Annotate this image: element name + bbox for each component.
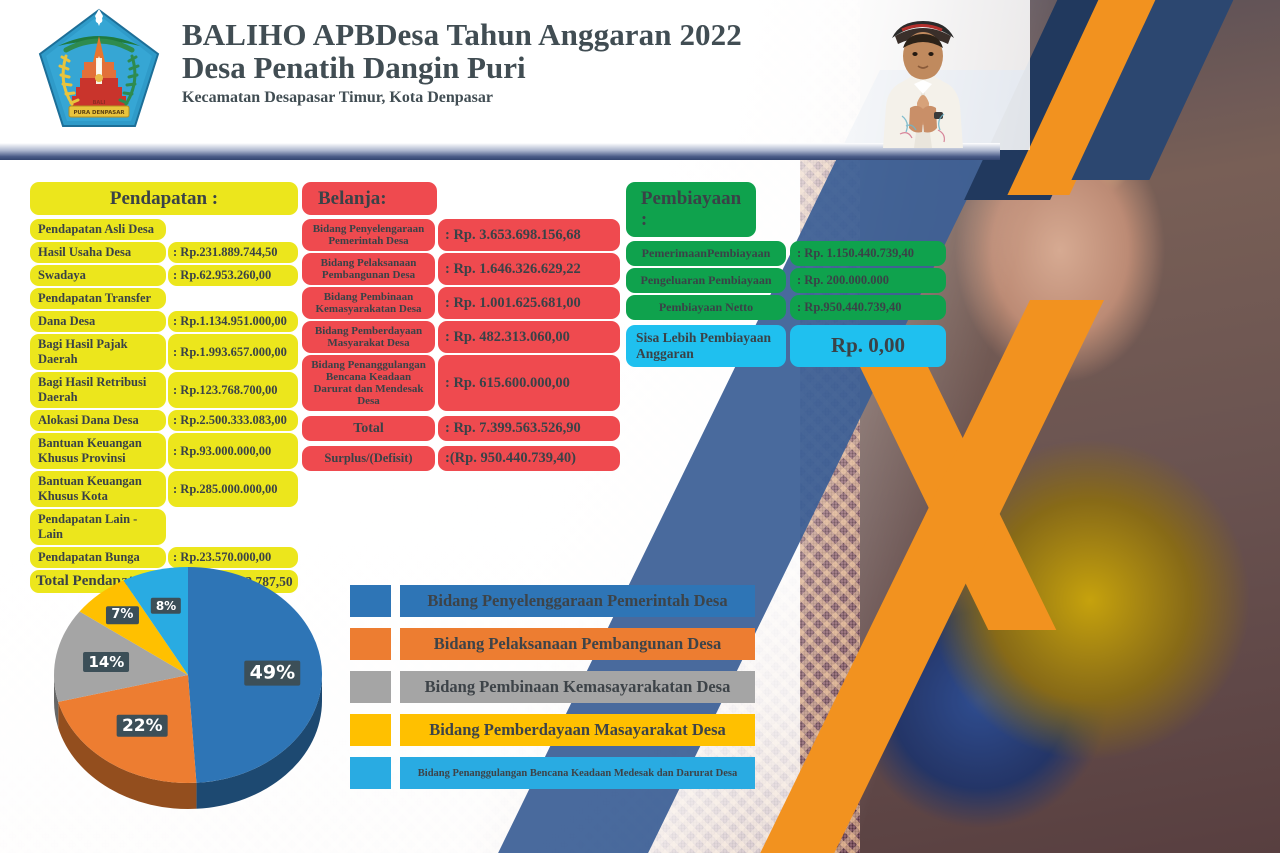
row-label: Dana Desa <box>30 311 166 332</box>
page-title: BALIHO APBDesa Tahun Anggaran 2022 <box>182 18 742 51</box>
table-row: Bidang Pembinaan Kemasyarakatan Desa: Rp… <box>302 287 620 319</box>
pendapatan-rows: Pendapatan Asli DesaHasil Usaha Desa: Rp… <box>30 219 298 568</box>
table-row: Dana Desa: Rp.1.134.951.000,00 <box>30 311 298 332</box>
row-value <box>168 219 298 240</box>
chart-legend: Bidang Penyelenggaraan Pemerintah DesaBi… <box>350 585 755 800</box>
row-label: Bantuan Keuangan Khusus Kota <box>30 471 166 507</box>
row-value: : Rp.285.000.000,00 <box>168 471 298 507</box>
pie-slice-label: 22% <box>117 714 168 736</box>
row-value: : Rp. 482.313.060,00 <box>438 321 620 353</box>
legend-color-swatch <box>350 714 391 746</box>
table-row: Alokasi Dana Desa: Rp.2.500.333.083,00 <box>30 410 298 431</box>
belanja-total-value: : Rp. 7.399.563.526,90 <box>438 416 620 441</box>
row-label: Bidang Penanggulangan Bencana Keadaan Da… <box>302 355 435 411</box>
table-row: Pendapatan Lain -Lain <box>30 509 298 545</box>
row-label: Alokasi Dana Desa <box>30 410 166 431</box>
pembiayaan-heading: Pembiayaan : <box>626 182 756 237</box>
row-label: Hasil Usaha Desa <box>30 242 166 263</box>
pie-slice-label: 7% <box>106 606 138 624</box>
legend-item[interactable]: Bidang Pelaksanaan Pembangunan Desa <box>350 628 755 660</box>
belanja-surplus-label: Surplus/(Defisit) <box>302 446 435 471</box>
legend-item[interactable]: Bidang Penanggulangan Bencana Keadaan Me… <box>350 757 755 789</box>
pie-graphic: 49%22%14%7%8% <box>38 557 358 817</box>
row-value: : Rp. 1.150.440.739,40 <box>790 241 946 266</box>
pendapatan-panel: Pendapatan : Pendapatan Asli DesaHasil U… <box>30 182 298 595</box>
table-row: Bantuan Keuangan Khusus Provinsi: Rp.93.… <box>30 433 298 469</box>
row-label: PemerimaanPembiayaan <box>626 241 786 266</box>
row-value: : Rp.1.134.951.000,00 <box>168 311 298 332</box>
row-label: Pembiayaan Netto <box>626 295 786 320</box>
row-value: : Rp. 3.653.698.156,68 <box>438 219 620 251</box>
pembiayaan-rows: PemerimaanPembiayaan: Rp. 1.150.440.739,… <box>626 241 946 320</box>
sisa-lebih-value: Rp. 0,00 <box>790 325 946 367</box>
sisa-lebih-row: Sisa Lebih Pembiayaan Anggaran Rp. 0,00 <box>626 325 946 367</box>
denpasar-city-emblem-icon: PURA DENPASAR BALI <box>36 6 162 132</box>
table-row: Swadaya: Rp.62.953.260,00 <box>30 265 298 286</box>
svg-text:PURA DENPASAR: PURA DENPASAR <box>73 110 125 116</box>
belanja-panel: Belanja: Bidang Penyelengaraan Pemerinta… <box>302 182 620 473</box>
row-value <box>168 288 298 309</box>
table-row: Hasil Usaha Desa: Rp.231.889.744,50 <box>30 242 298 263</box>
table-row: Bidang Penyelengaraan Pemerintah Desa: R… <box>302 219 620 251</box>
table-row: Bidang Penanggulangan Bencana Keadaan Da… <box>302 355 620 411</box>
row-label: Pendapatan Asli Desa <box>30 219 166 240</box>
table-row: Bidang Pemberdayaan Masyarakat Desa: Rp.… <box>302 321 620 353</box>
table-row: PemerimaanPembiayaan: Rp. 1.150.440.739,… <box>626 241 946 266</box>
legend-item[interactable]: Bidang Penyelenggaraan Pemerintah Desa <box>350 585 755 617</box>
row-label: Bagi Hasil Retribusi Daerah <box>30 372 166 408</box>
pembiayaan-panel: Pembiayaan : PemerimaanPembiayaan: Rp. 1… <box>626 182 946 369</box>
row-value: : Rp.1.993.657.000,00 <box>168 334 298 370</box>
belanja-heading: Belanja: <box>302 182 437 215</box>
row-label: Swadaya <box>30 265 166 286</box>
row-label: Bantuan Keuangan Khusus Provinsi <box>30 433 166 469</box>
row-value: : Rp. 200.000.000 <box>790 268 946 293</box>
row-value: : Rp. 615.600.000,00 <box>438 355 620 411</box>
row-label: Bidang Pembinaan Kemasyarakatan Desa <box>302 287 435 319</box>
table-row: Pendapatan Transfer <box>30 288 298 309</box>
row-label: Bidang Pemberdayaan Masyarakat Desa <box>302 321 435 353</box>
table-row: Bidang Pelaksanaan Pembangunan Desa: Rp.… <box>302 253 620 285</box>
row-value: : Rp.62.953.260,00 <box>168 265 298 286</box>
row-value: : Rp. 1.646.326.629,22 <box>438 253 620 285</box>
table-row: Bagi Hasil Pajak Daerah: Rp.1.993.657.00… <box>30 334 298 370</box>
belanja-rows: Bidang Penyelengaraan Pemerintah Desa: R… <box>302 219 620 411</box>
legend-item[interactable]: Bidang Pemberdayaan Masayarakat Desa <box>350 714 755 746</box>
legend-color-swatch <box>350 628 391 660</box>
baliho-poster: PURA DENPASAR BALI BALIHO APBDesa Tahun … <box>0 0 1280 853</box>
pie-slice-label: 49% <box>245 660 300 685</box>
row-value: : Rp. 1.001.625.681,00 <box>438 287 620 319</box>
row-value: : Rp.93.000.000,00 <box>168 433 298 469</box>
table-row: Bagi Hasil Retribusi Daerah: Rp.123.768.… <box>30 372 298 408</box>
row-label: Bagi Hasil Pajak Daerah <box>30 334 166 370</box>
legend-color-swatch <box>350 671 391 703</box>
belanja-total-label: Total <box>302 416 435 441</box>
header-divider-rule <box>0 143 1000 160</box>
belanja-total-row: Total : Rp. 7.399.563.526,90 <box>302 416 620 441</box>
row-value <box>168 509 298 545</box>
table-row: Pengeluaran Pembiayaan: Rp. 200.000.000 <box>626 268 946 293</box>
pie-slice-label: 8% <box>151 598 181 614</box>
belanja-surplus-value: :(Rp. 950.440.739,40) <box>438 446 620 471</box>
legend-label: Bidang Pemberdayaan Masayarakat Desa <box>400 714 755 746</box>
legend-label: Bidang Penyelenggaraan Pemerintah Desa <box>400 585 755 617</box>
row-label: Pendapatan Lain -Lain <box>30 509 166 545</box>
table-row: Pendapatan Asli Desa <box>30 219 298 240</box>
row-label: Pendapatan Transfer <box>30 288 166 309</box>
row-value: : Rp.2.500.333.083,00 <box>168 410 298 431</box>
pie-slice-label: 14% <box>83 652 129 672</box>
svg-text:BALI: BALI <box>93 100 106 106</box>
row-label: Bidang Pelaksanaan Pembangunan Desa <box>302 253 435 285</box>
sisa-lebih-label: Sisa Lebih Pembiayaan Anggaran <box>626 325 786 367</box>
legend-item[interactable]: Bidang Pembinaan Kemasayarakatan Desa <box>350 671 755 703</box>
legend-label: Bidang Pembinaan Kemasayarakatan Desa <box>400 671 755 703</box>
row-label: Pengeluaran Pembiayaan <box>626 268 786 293</box>
legend-label: Bidang Penanggulangan Bencana Keadaan Me… <box>400 757 755 789</box>
pendapatan-heading: Pendapatan : <box>30 182 298 215</box>
row-value: : Rp.231.889.744,50 <box>168 242 298 263</box>
belanja-surplus-row: Surplus/(Defisit) :(Rp. 950.440.739,40) <box>302 446 620 471</box>
legend-label: Bidang Pelaksanaan Pembangunan Desa <box>400 628 755 660</box>
village-head-photo <box>862 8 984 148</box>
legend-color-swatch <box>350 757 391 789</box>
page-subtitle-district: Kecamatan Desapasar Timur, Kota Denpasar <box>182 89 742 107</box>
page-subtitle-village: Desa Penatih Dangin Puri <box>182 51 742 86</box>
page-title-block: BALIHO APBDesa Tahun Anggaran 2022 Desa … <box>182 18 742 107</box>
table-row: Bantuan Keuangan Khusus Kota: Rp.285.000… <box>30 471 298 507</box>
legend-color-swatch <box>350 585 391 617</box>
row-value: : Rp.950.440.739,40 <box>790 295 946 320</box>
row-value: : Rp.123.768.700,00 <box>168 372 298 408</box>
row-label: Bidang Penyelengaraan Pemerintah Desa <box>302 219 435 251</box>
table-row: Pembiayaan Netto: Rp.950.440.739,40 <box>626 295 946 320</box>
